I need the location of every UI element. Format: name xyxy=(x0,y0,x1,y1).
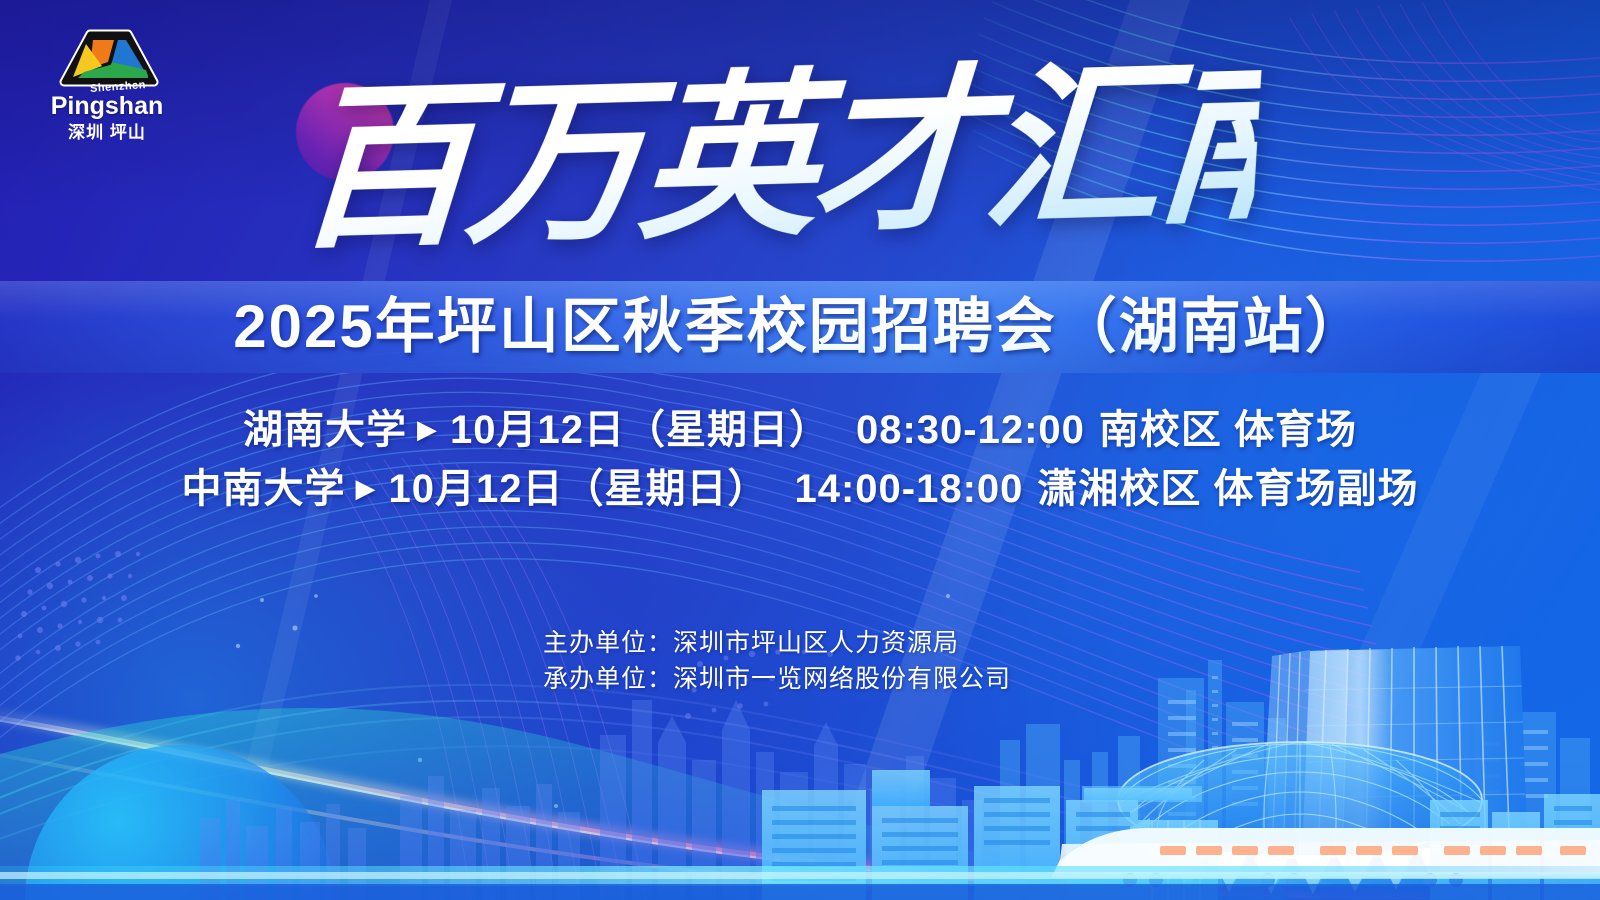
session-university: 中南大学 xyxy=(181,467,345,511)
session-marker-icon: ▶ xyxy=(417,400,438,458)
organizer-list: 主办单位：深圳市坪山区人力资源局 承办单位：深圳市一览网络股份有限公司 xyxy=(543,625,1011,697)
session-list: 湖南大学▶10月12日（星期日）08:30-12:00南校区 体育场 中南大学▶… xyxy=(0,400,1600,518)
session-university: 湖南大学 xyxy=(243,408,407,452)
subtitle: 2025年坪山区秋季校园招聘会（湖南站） xyxy=(0,286,1600,368)
logo-chinese: 深圳 坪山 xyxy=(42,118,172,143)
session-venue: 潇湘校区 体育场副场 xyxy=(1037,467,1418,511)
session-marker-icon: ▶ xyxy=(355,459,376,517)
session-date: 10月12日（星期日） xyxy=(450,408,830,452)
organizer-host: 主办单位：深圳市坪山区人力资源局 xyxy=(543,625,1011,661)
session-time: 14:00-18:00 xyxy=(794,467,1023,511)
session-time: 08:30-12:00 xyxy=(856,408,1085,452)
recruitment-poster: Shenzhen Pingshan 深圳 坪山 百万英才汇南粤 2025年坪山区… xyxy=(0,0,1600,900)
session-row: 湖南大学▶10月12日（星期日）08:30-12:00南校区 体育场 xyxy=(0,400,1600,459)
organizer-operator: 承办单位：深圳市一览网络股份有限公司 xyxy=(543,661,1011,697)
session-date: 10月12日（星期日） xyxy=(388,467,768,511)
pingshan-logo[interactable]: Shenzhen Pingshan 深圳 坪山 xyxy=(42,28,172,143)
session-row: 中南大学▶10月12日（星期日）14:00-18:00潇湘校区 体育场副场 xyxy=(0,459,1600,518)
session-venue: 南校区 体育场 xyxy=(1099,408,1357,452)
logo-english: Pingshan xyxy=(42,92,172,121)
main-title: 百万英才汇南粤 xyxy=(289,39,1264,281)
